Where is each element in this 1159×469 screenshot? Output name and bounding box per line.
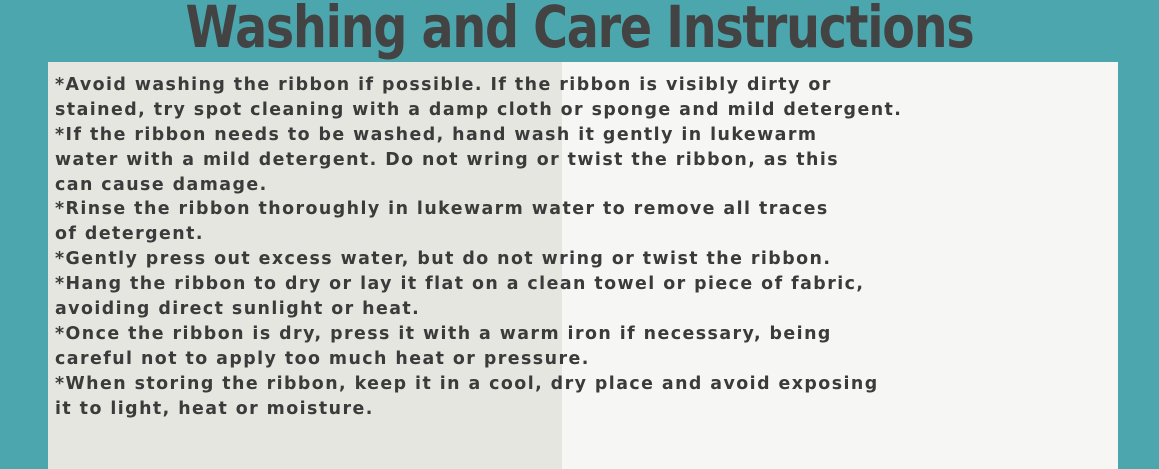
- poster-canvas: Washing and Care Instructions *Avoid was…: [0, 0, 1159, 469]
- instructions-text-block: *Avoid washing the ribbon if possible. I…: [55, 73, 1145, 421]
- instruction-line: *Once the ribbon is dry, press it with a…: [55, 322, 1145, 347]
- instruction-line: *Rinse the ribbon thoroughly in lukewarm…: [55, 197, 1145, 222]
- instruction-line: avoiding direct sunlight or heat.: [55, 297, 1145, 322]
- instruction-line: *Hang the ribbon to dry or lay it flat o…: [55, 272, 1145, 297]
- instruction-line: can cause damage.: [55, 173, 1145, 198]
- instruction-line: it to light, heat or moisture.: [55, 397, 1145, 422]
- instruction-line: *Gently press out excess water, but do n…: [55, 247, 1145, 272]
- instruction-line: *When storing the ribbon, keep it in a c…: [55, 372, 1145, 397]
- instruction-line: *If the ribbon needs to be washed, hand …: [55, 123, 1145, 148]
- page-title: Washing and Care Instructions: [104, 0, 1054, 58]
- instruction-line: water with a mild detergent. Do not wrin…: [55, 148, 1145, 173]
- instructions-panel: *Avoid washing the ribbon if possible. I…: [48, 62, 1118, 469]
- instruction-line: careful not to apply too much heat or pr…: [55, 347, 1145, 372]
- instruction-line: of detergent.: [55, 222, 1145, 247]
- instruction-line: *Avoid washing the ribbon if possible. I…: [55, 73, 1145, 98]
- instruction-line: stained, try spot cleaning with a damp c…: [55, 98, 1145, 123]
